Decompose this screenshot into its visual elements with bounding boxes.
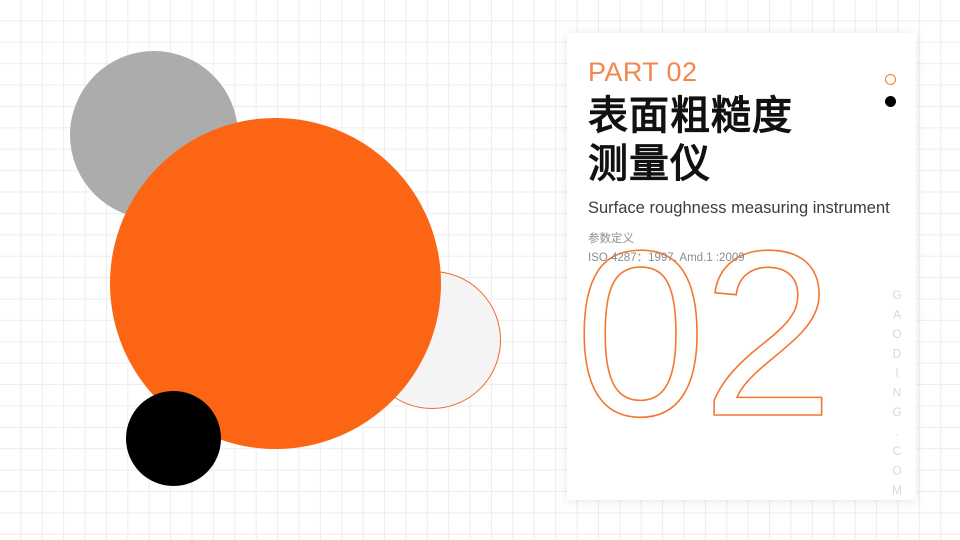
slide-canvas: 02 GAODING.COM PART 02 表面粗糙度 测量仪 Surface…	[0, 0, 960, 540]
black-circle-decoration	[126, 391, 221, 486]
card-text-block: PART 02 表面粗糙度 测量仪 Surface roughness meas…	[588, 55, 896, 266]
page-title: 表面粗糙度 测量仪	[588, 92, 896, 188]
part-label: PART 02	[588, 55, 896, 89]
subtitle-english: Surface roughness measuring instrument	[588, 197, 896, 219]
brand-watermark-vertical: GAODING.COM	[890, 288, 904, 503]
content-card: 02 GAODING.COM PART 02 表面粗糙度 测量仪 Surface…	[567, 33, 916, 500]
meta-parameter-definition: 参数定义	[588, 231, 896, 247]
meta-iso-standard: ISO 4287：1997, Amd.1 :2009	[588, 250, 896, 266]
